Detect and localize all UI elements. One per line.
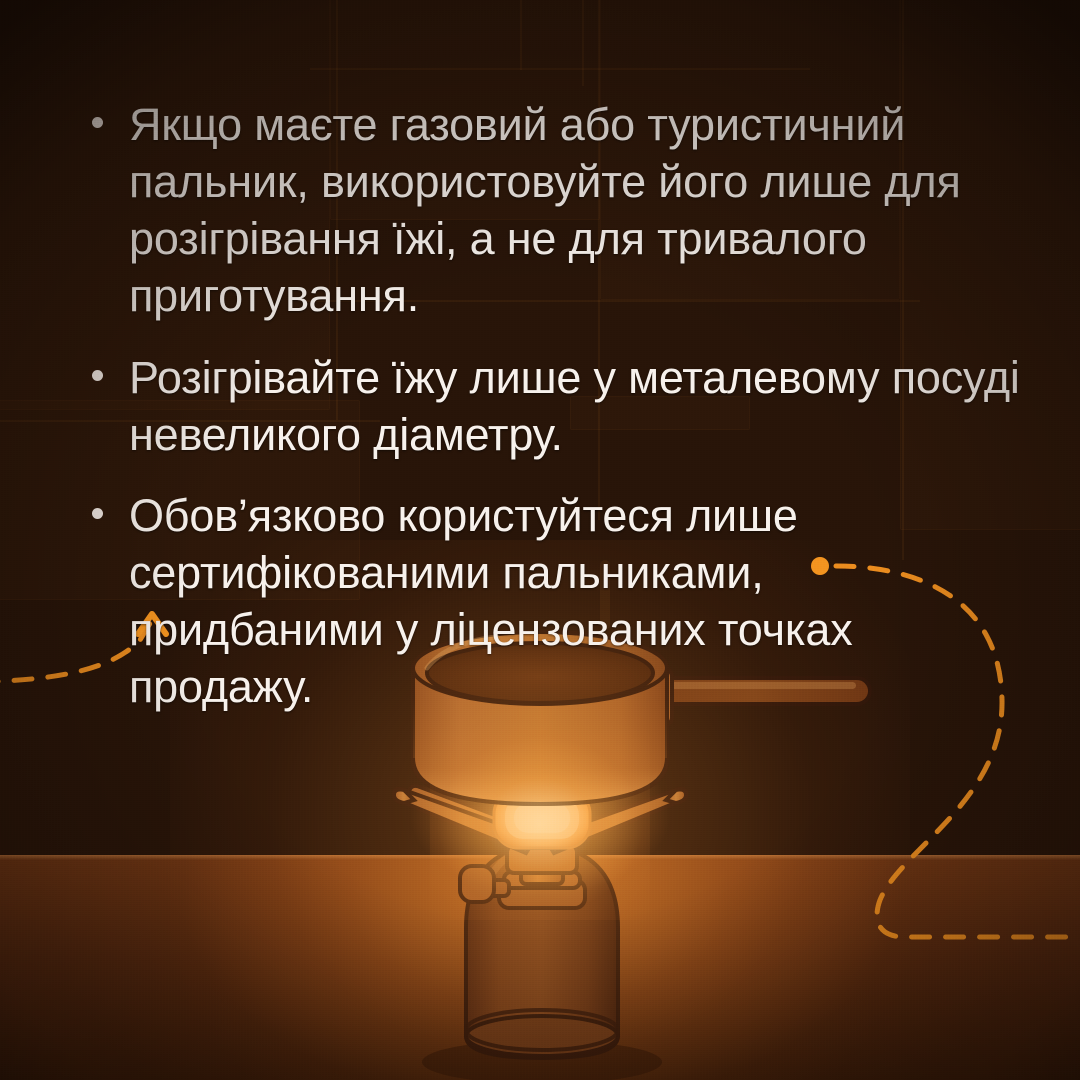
list-item: Обов’язково користуйтеся лише сертифіков… xyxy=(88,487,1028,716)
bullet-marker-icon xyxy=(92,117,103,128)
table-edge xyxy=(0,855,1080,860)
bullet-marker-icon xyxy=(92,508,103,519)
background-seam-vertical-4 xyxy=(520,0,522,70)
background-seam-horizontal-1 xyxy=(310,68,810,70)
bullet-text-1: Якщо маєте газовий або туристичний пальн… xyxy=(129,96,1028,325)
table-surface xyxy=(0,855,1080,1080)
bullet-marker-icon xyxy=(92,370,103,381)
bullet-text-2: Розігрівайте їжу лише у металевому посуд… xyxy=(129,349,1028,463)
background-seam-vertical-5 xyxy=(582,0,584,86)
bullet-text-3: Обов’язково користуйтеся лише сертифіков… xyxy=(129,487,1028,716)
infographic-card: Якщо маєте газовий або туристичний пальн… xyxy=(0,0,1080,1080)
bullet-list: Якщо маєте газовий або туристичний пальн… xyxy=(88,96,1028,739)
list-item: Розігрівайте їжу лише у металевому посуд… xyxy=(88,349,1028,463)
list-item: Якщо маєте газовий або туристичний пальн… xyxy=(88,96,1028,325)
